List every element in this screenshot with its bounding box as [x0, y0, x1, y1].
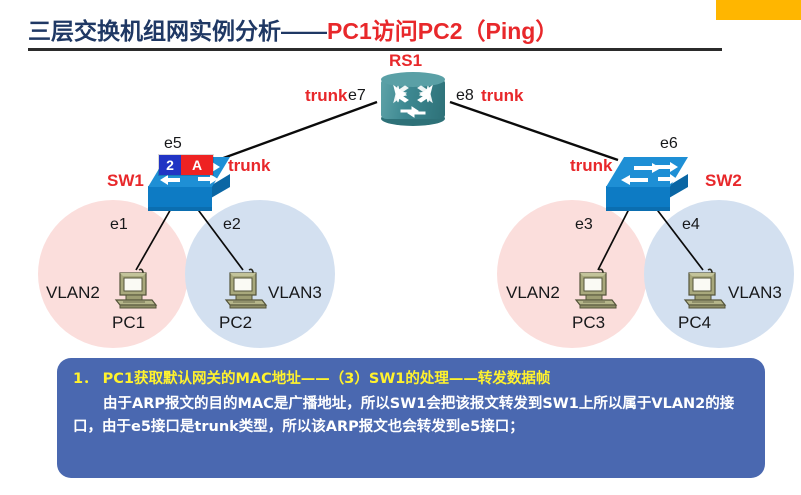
vlan-label-vlan2-left: VLAN2: [46, 284, 100, 301]
page-title-accent: PC1访问PC2（Ping）: [327, 18, 558, 44]
pc-glyph: [572, 267, 618, 311]
sw1-port-e2: e2: [223, 217, 241, 233]
switch-arrows-glyph-sw2: [612, 159, 684, 189]
host-label-pc1: PC1: [112, 314, 145, 331]
desktop-pc-icon-pc4[interactable]: [681, 267, 727, 311]
host-label-pc2: PC2: [219, 314, 252, 331]
switch-icon-sw1[interactable]: 2 A: [148, 157, 230, 213]
desktop-pc-icon-pc2[interactable]: [222, 267, 268, 311]
pc-glyph: [112, 267, 158, 311]
desktop-pc-icon-pc1[interactable]: [112, 267, 158, 311]
sw1-frame-mac-label: A: [181, 155, 213, 175]
page-title-main: 三层交换机组网实例分析——: [28, 18, 327, 44]
sw1-frame-overlay: 2 A: [159, 155, 213, 175]
vlan-label-vlan3-right: VLAN3: [728, 284, 782, 301]
router-label-rs1: RS1: [389, 52, 422, 69]
pc-glyph: [222, 267, 268, 311]
desktop-pc-icon-pc3[interactable]: [572, 267, 618, 311]
sw2-port-e3: e3: [575, 217, 593, 233]
explanation-note-box: 1． PC1获取默认网关的MAC地址——（3）SW1的处理——转发数据帧 由于A…: [57, 358, 765, 478]
switch-label-sw1: SW1: [107, 172, 144, 189]
page-title: 三层交换机组网实例分析——PC1访问PC2（Ping）: [28, 12, 773, 46]
host-label-pc3: PC3: [572, 314, 605, 331]
sw2-port-e6: e6: [660, 136, 678, 152]
router-port-e8: e8: [456, 88, 474, 104]
network-topology-diagram: RS1 trunk e7 e8 trunk e5 SW1 trunk: [0, 52, 801, 352]
note-body-text: 由于ARP报文的目的MAC是广播地址，所以SW1会把该报文转发到SW1上所以属于…: [73, 393, 749, 440]
vlan-label-vlan2-right: VLAN2: [506, 284, 560, 301]
sw1-port-e5: e5: [164, 136, 182, 152]
sw1-frame-vlan-tag: 2: [159, 155, 181, 175]
sw1-port-e1: e1: [110, 217, 128, 233]
vlan-label-vlan3-left: VLAN3: [268, 284, 322, 301]
router-icon[interactable]: [381, 72, 445, 126]
router-trunk-label-left: trunk: [305, 87, 348, 104]
router-arrows-glyph: [388, 80, 438, 120]
title-underline: [28, 48, 722, 51]
pc-glyph: [681, 267, 727, 311]
sw2-port-e4: e4: [682, 217, 700, 233]
note-heading: 1． PC1获取默认网关的MAC地址——（3）SW1的处理——转发数据帧: [73, 369, 749, 391]
host-label-pc4: PC4: [678, 314, 711, 331]
router-trunk-label-right: trunk: [481, 87, 524, 104]
sw1-trunk-label: trunk: [228, 157, 271, 174]
slide-page: 三层交换机组网实例分析——PC1访问PC2（Ping） RS1: [0, 0, 801, 495]
router-port-e7: e7: [348, 88, 366, 104]
switch-icon-sw2[interactable]: [606, 157, 688, 213]
switch-label-sw2: SW2: [705, 172, 742, 189]
